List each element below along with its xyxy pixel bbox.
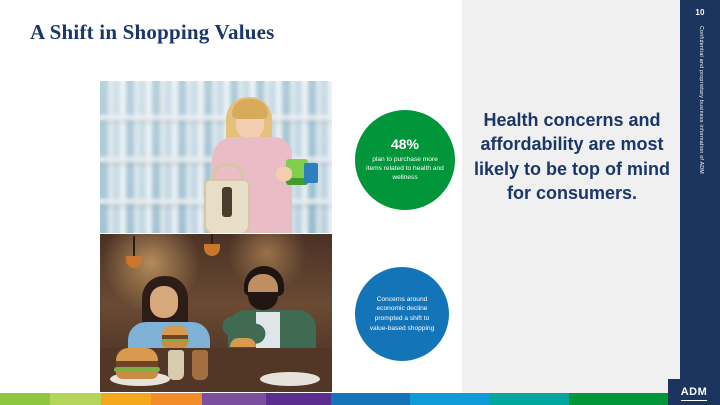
- drink-glass-icon: [192, 350, 208, 380]
- burger-icon: [162, 326, 188, 348]
- burger-on-plate-icon: [116, 348, 158, 378]
- callout-blue: Concerns around economic decline prompte…: [355, 267, 449, 361]
- callout-green-stat: 48%: [391, 137, 419, 152]
- image-shopper: [100, 81, 332, 233]
- image-couple-dining: [100, 234, 332, 392]
- footer-color-strip: [0, 393, 720, 405]
- page-title: A Shift in Shopping Values: [30, 20, 275, 45]
- slide: A Shift in Shopping Values: [0, 0, 720, 405]
- confidential-note: Confidential and proprietary business in…: [680, 26, 720, 326]
- callout-green-text: plan to purchase more items related to h…: [364, 156, 446, 183]
- drink-glass-icon: [168, 350, 184, 380]
- adm-logo: ADM: [668, 379, 720, 405]
- slide-number: 10: [680, 8, 720, 17]
- headline-text: Health concerns and affordability are mo…: [474, 108, 670, 205]
- shopper-figure: [208, 91, 300, 233]
- callout-blue-text: Concerns around economic decline prompte…: [365, 295, 439, 333]
- callout-green: 48% plan to purchase more items related …: [355, 110, 455, 210]
- adm-logo-text: ADM: [681, 386, 708, 398]
- plate-icon: [260, 372, 320, 386]
- right-navy-sidebar: 10 Confidential and proprietary business…: [680, 0, 720, 393]
